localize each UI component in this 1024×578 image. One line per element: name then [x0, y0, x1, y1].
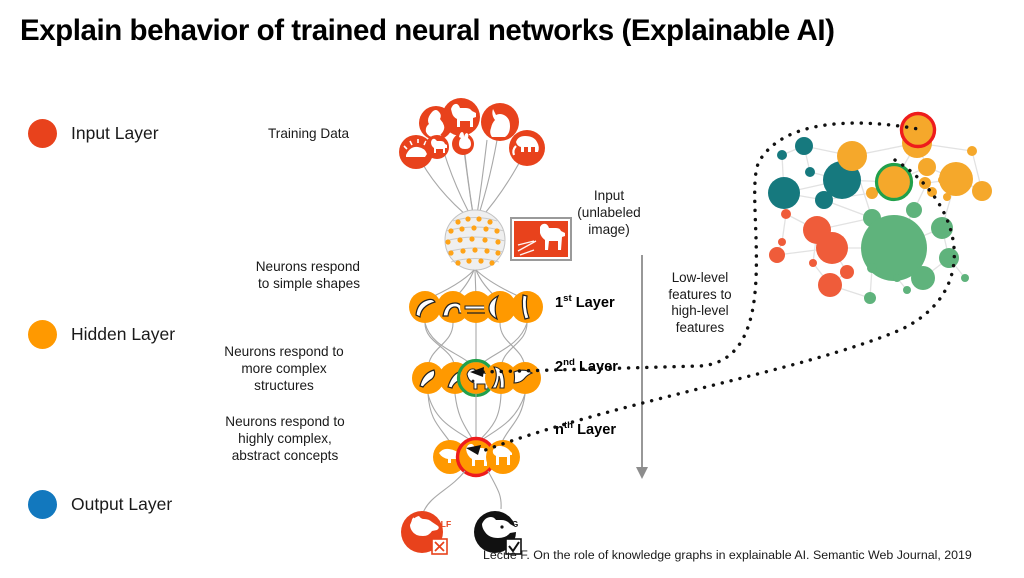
graph-node[interactable] [809, 259, 817, 267]
graph-node[interactable] [837, 141, 867, 171]
graph-node[interactable] [919, 177, 931, 189]
graph-node[interactable] [864, 292, 876, 304]
feature-direction-arrow [636, 255, 648, 479]
graph-node[interactable] [939, 162, 973, 196]
graph-node[interactable] [778, 238, 786, 246]
legend-label-hidden-layer: Hidden Layer [71, 324, 175, 345]
graph-node[interactable] [867, 263, 877, 273]
graph-node[interactable] [931, 217, 953, 239]
page-title: Explain behavior of trained neural netwo… [20, 14, 1010, 48]
filled-circle-icon [28, 320, 57, 349]
layer-1-neurons [409, 291, 543, 323]
graph-node[interactable] [893, 274, 901, 282]
graph-node[interactable] [927, 187, 937, 197]
knowledge-graph-node-highlight-red[interactable] [902, 114, 935, 147]
training-data-icons [399, 98, 545, 169]
neural-network-figure: Training Data Neurons respond to simple … [210, 95, 670, 545]
graph-node[interactable] [816, 232, 848, 264]
dog-icon [442, 98, 480, 136]
neuron-layer1-0 [409, 291, 441, 323]
legend-label-output-layer: Output Layer [71, 494, 172, 515]
graph-node[interactable] [781, 209, 791, 219]
legend-item-hidden-layer: Hidden Layer [28, 320, 175, 349]
graph-node[interactable] [777, 150, 787, 160]
legend-item-output-layer: Output Layer [28, 490, 172, 519]
graph-node[interactable] [906, 202, 922, 218]
graph-node[interactable] [961, 274, 969, 282]
network-edges-layer2-to-layern [428, 394, 525, 443]
citation-text: Lecue F. On the role of knowledge graphs… [483, 548, 972, 562]
graph-node[interactable] [903, 286, 911, 294]
graph-node[interactable] [815, 191, 833, 209]
elephant-icon [509, 130, 545, 166]
graph-node[interactable] [939, 248, 959, 268]
neuron-layer2-4 [509, 362, 541, 394]
graph-node[interactable] [768, 177, 800, 209]
knowledge-graph-nodes [768, 128, 992, 304]
slide-canvas: Explain behavior of trained neural netwo… [0, 0, 1024, 578]
legend-item-input-layer: Input Layer [28, 119, 159, 148]
input-sphere-node [445, 210, 505, 270]
knowledge-graph [742, 100, 1024, 320]
rabbit-icon [452, 132, 474, 155]
layer-n-neurons [433, 439, 520, 476]
neuron-layern-2 [486, 440, 520, 474]
layer-2-neurons [412, 361, 541, 396]
graph-node[interactable] [972, 181, 992, 201]
graph-node[interactable] [911, 266, 935, 290]
legend-label-input-layer: Input Layer [71, 123, 159, 144]
graph-node[interactable] [795, 137, 813, 155]
filled-circle-icon [28, 490, 57, 519]
graph-node[interactable] [818, 273, 842, 297]
prediction-wolf [401, 511, 447, 554]
neuron-layer1-4 [511, 291, 543, 323]
graph-node[interactable] [918, 158, 936, 176]
network-edges-layern-to-output [423, 471, 501, 513]
cat-icon [481, 103, 519, 141]
network-graphic [210, 95, 670, 545]
graph-node[interactable] [769, 247, 785, 263]
knowledge-graph-svg [742, 100, 1024, 320]
input-image-thumbnail [511, 218, 571, 260]
filled-circle-icon [28, 119, 57, 148]
graph-node[interactable] [840, 265, 854, 279]
knowledge-graph-node-highlight-green[interactable] [877, 165, 912, 200]
graph-node[interactable] [967, 146, 977, 156]
graph-node[interactable] [805, 167, 815, 177]
puppy-icon [425, 135, 449, 159]
